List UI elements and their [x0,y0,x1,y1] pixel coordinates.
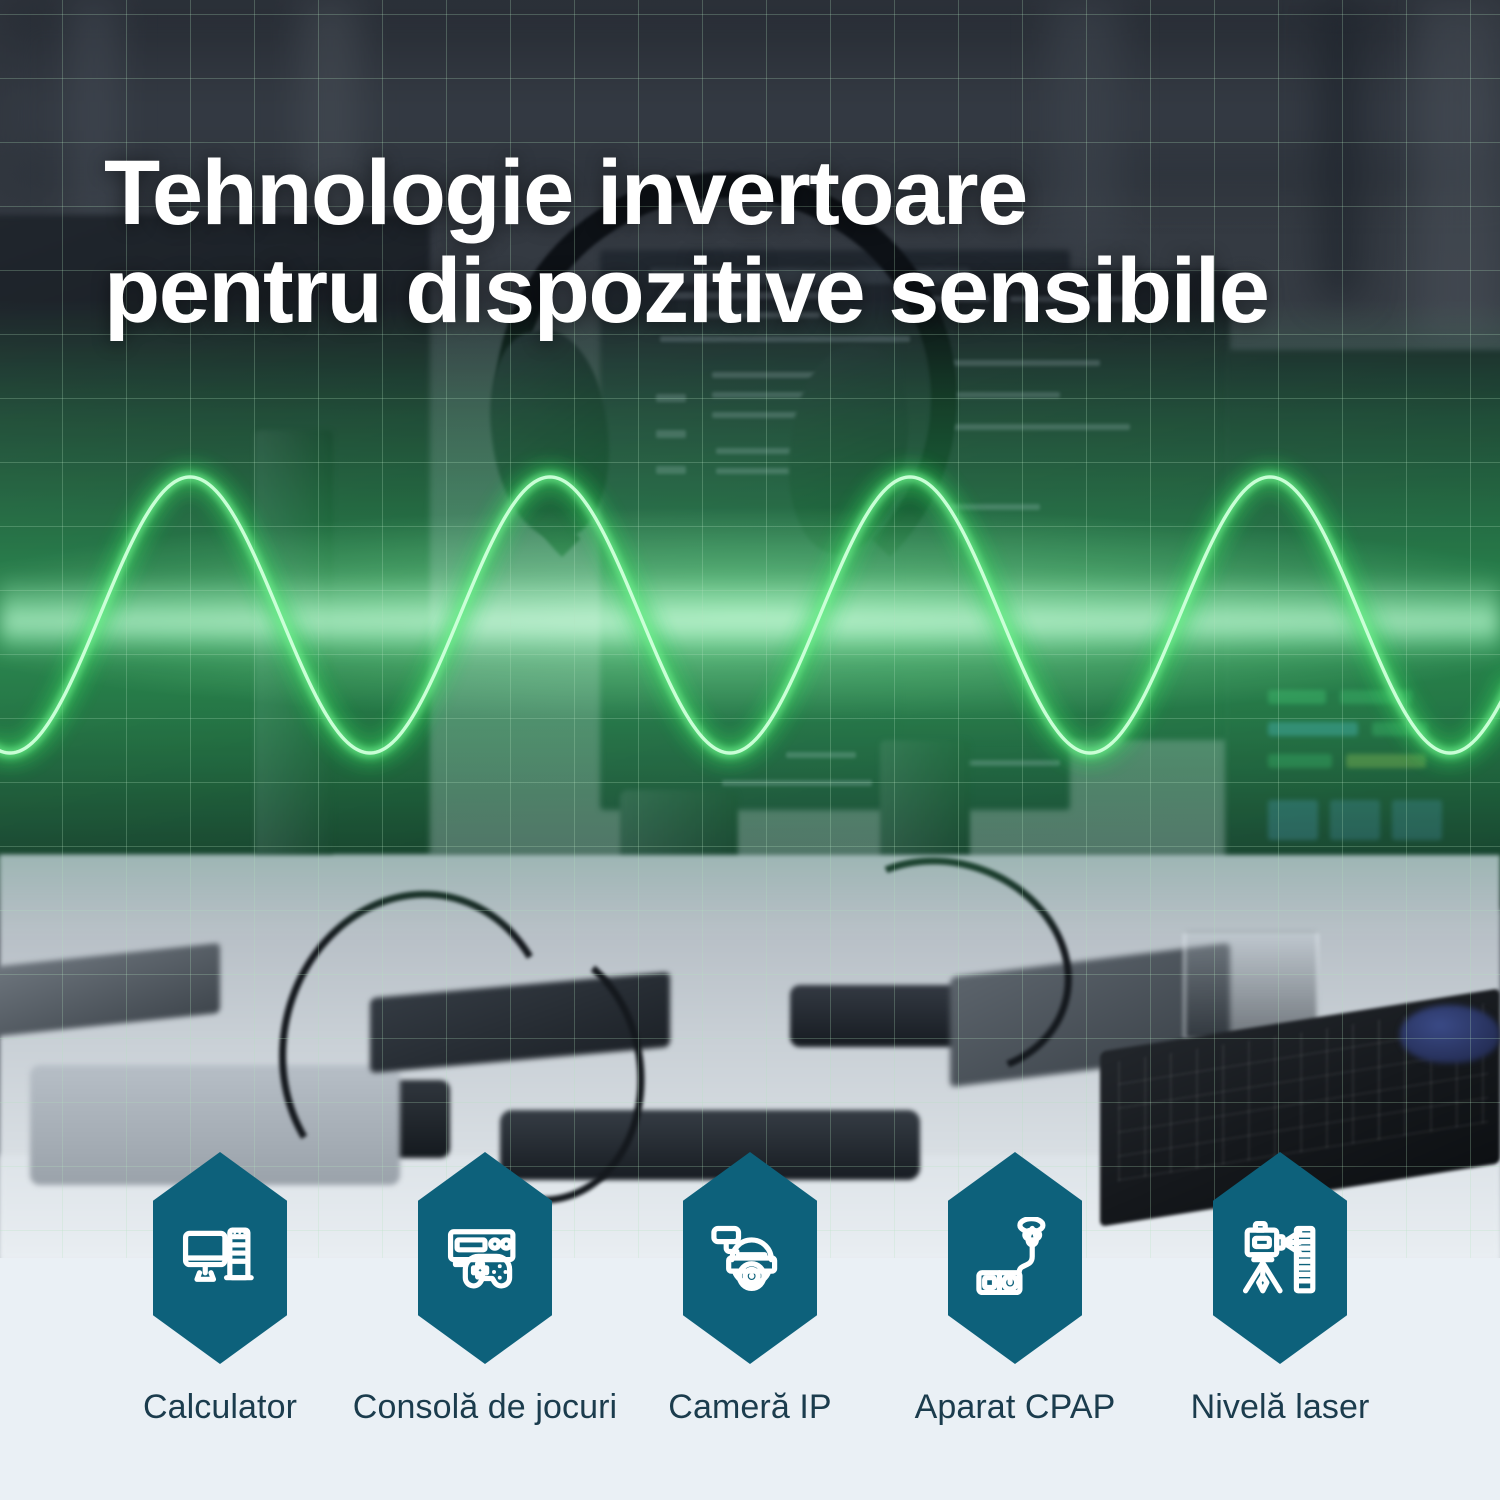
device-badge-ip-camera[interactable] [683,1152,817,1364]
screen-text-line [950,392,1060,398]
screen-block [1340,690,1412,704]
cpap-machine-icon [974,1217,1056,1299]
device-badge-game-console[interactable] [418,1152,552,1364]
device-label-game-console: Consolă de jocuri [353,1388,618,1427]
laser-level-icon [1239,1217,1321,1299]
device-label-laser-level: Nivelă laser [1148,1388,1413,1427]
promo-graphic: Tehnologie invertoare pentru dispozitive… [0,0,1500,1500]
screen-block [1268,754,1332,768]
device-label-calculator: Calculator [88,1388,353,1427]
screen-block [1372,722,1428,736]
screen-text-line [950,424,1130,430]
device-label-ip-camera: Cameră IP [618,1388,883,1427]
device-badge-cpap[interactable] [948,1152,1082,1364]
screen-block [1268,800,1318,840]
device-badge-calculator[interactable] [153,1152,287,1364]
screen-block [1330,800,1380,840]
screen-text-line [786,752,856,758]
device-label-cpap: Aparat CPAP [883,1388,1148,1427]
screen-block [1346,754,1426,768]
page-title: Tehnologie invertoare pentru dispozitive… [104,144,1404,341]
screen-text-line [950,504,1040,510]
screen-block [1268,690,1326,704]
desktop-computer-icon [179,1217,261,1299]
screen-text-line [950,360,1100,366]
screen-block [1392,800,1442,840]
device-badge-laser-level[interactable] [1213,1152,1347,1364]
game-console-icon [444,1217,526,1299]
screen-text-line [722,780,872,786]
device-label-row: Calculator Consolă de jocuri Cameră IP A… [0,1388,1500,1427]
computer-mouse [1400,1005,1500,1063]
screen-block [1268,722,1358,736]
ip-camera-icon [709,1217,791,1299]
window-pillar-5 [1415,0,1500,340]
